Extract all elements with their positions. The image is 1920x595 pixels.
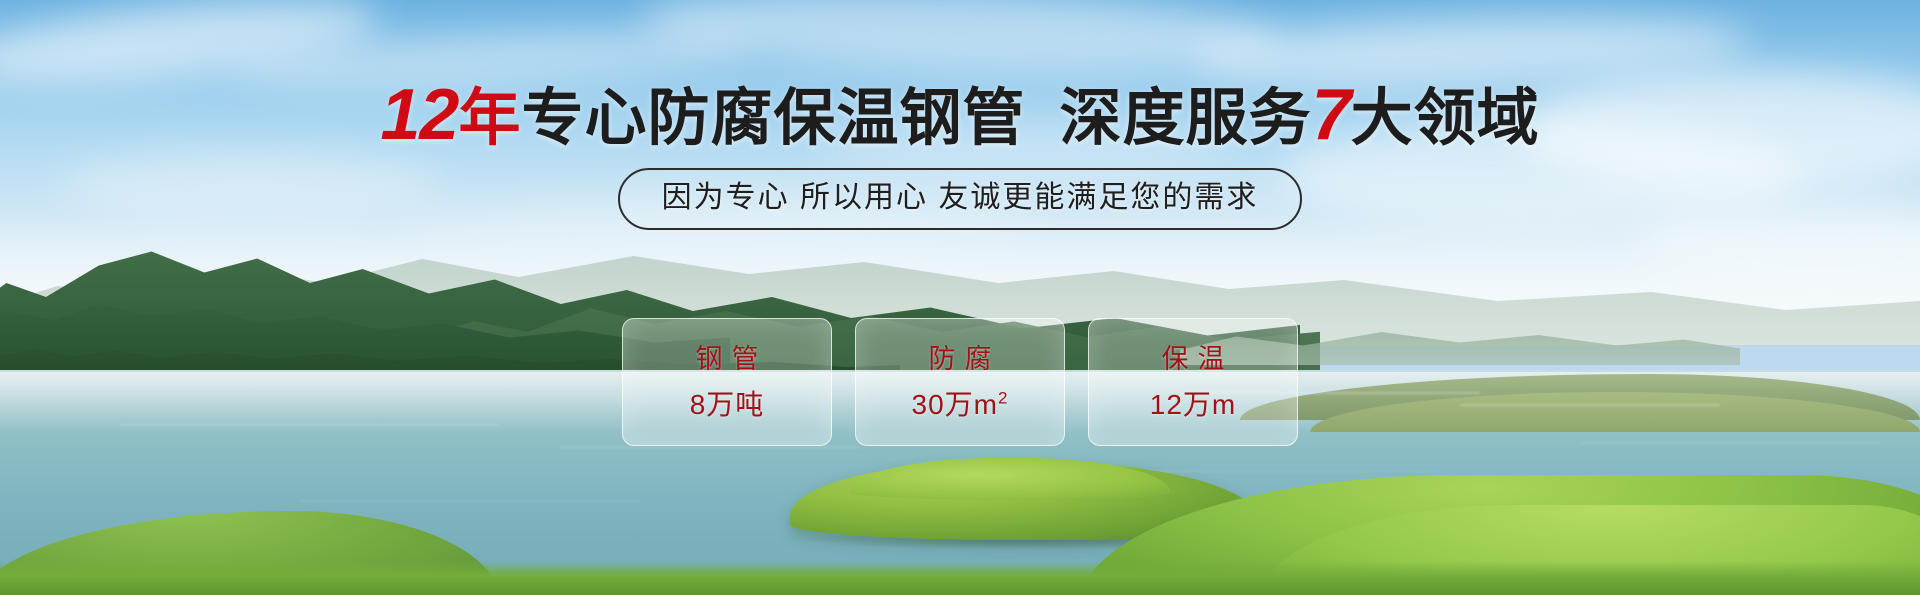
headline-fields-number: 7 xyxy=(1312,75,1351,155)
stat-card-value-text: 8万吨 xyxy=(690,389,765,420)
headline: 12年专心防腐保温钢管深度服务7大领域 xyxy=(0,80,1920,154)
stat-card-steel-pipe: 钢管 8万吨 xyxy=(622,318,832,446)
hero-banner: 12年专心防腐保温钢管深度服务7大领域 因为专心 所以用心 友诚更能满足您的需求… xyxy=(0,0,1920,595)
subtitle-pill: 因为专心 所以用心 友诚更能满足您的需求 xyxy=(618,168,1303,230)
stat-card-value: 30万m2 xyxy=(912,390,1009,420)
stat-card-value: 12万m xyxy=(1150,390,1236,420)
headline-years-number: 12 xyxy=(380,75,458,155)
banner-content: 12年专心防腐保温钢管深度服务7大领域 因为专心 所以用心 友诚更能满足您的需求… xyxy=(0,0,1920,595)
headline-service-text: 深度服务 xyxy=(1060,84,1312,153)
headline-main-text: 专心防腐保温钢管 xyxy=(522,84,1026,153)
subtitle-container: 因为专心 所以用心 友诚更能满足您的需求 xyxy=(0,168,1920,230)
stat-card-value-superscript: 2 xyxy=(998,389,1008,408)
stat-card-label: 防腐 xyxy=(920,344,1001,374)
headline-fields-text: 大领域 xyxy=(1351,84,1540,153)
stat-card-label: 保温 xyxy=(1153,344,1234,374)
headline-years-unit: 年 xyxy=(458,84,521,153)
stat-card-value: 8万吨 xyxy=(690,390,765,420)
stat-card-insulation: 保温 12万m xyxy=(1088,318,1298,446)
stat-card-value-text: 30万m xyxy=(912,389,998,420)
stat-card-label: 钢管 xyxy=(687,344,768,374)
stat-card-value-text: 12万m xyxy=(1150,389,1236,420)
stat-card-anticorrosion: 防腐 30万m2 xyxy=(855,318,1065,446)
stat-cards: 钢管 8万吨 防腐 30万m2 保温 12万m xyxy=(0,318,1920,446)
